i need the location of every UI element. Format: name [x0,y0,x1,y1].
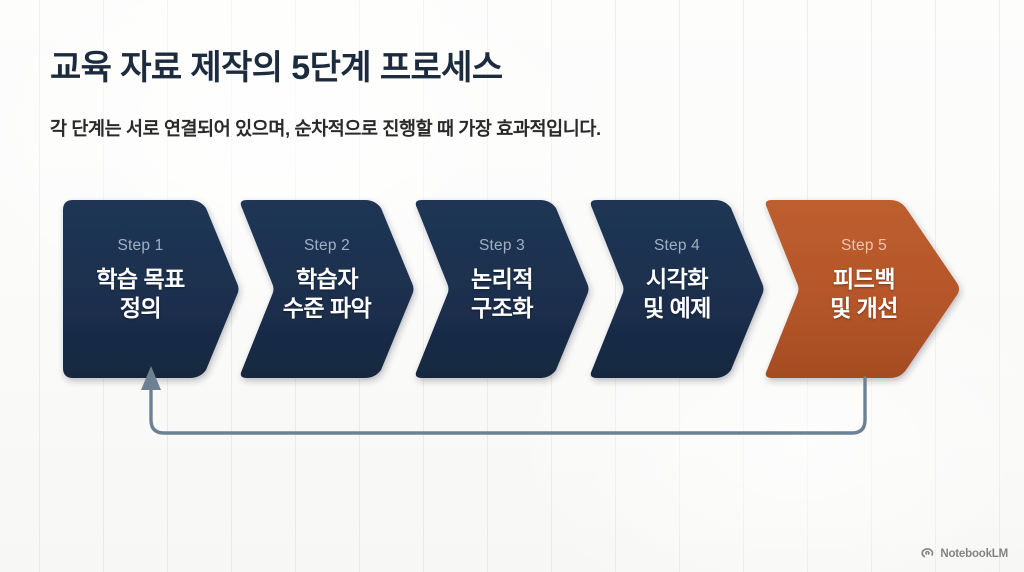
step-4-label: Step 4 시각화 및 예제 [603,238,751,323]
page-title: 교육 자료 제작의 5단계 프로세스 [50,40,503,89]
step-5-label: Step 5 피드백 및 개선 [790,238,938,323]
step-1-label: Step 1 학습 목표 정의 [63,238,218,323]
chevron-step-2[interactable] [241,200,414,378]
chevron-step-3[interactable] [416,200,589,378]
step-2-number: Step 2 [253,238,401,254]
chevron-step-5[interactable] [766,200,959,378]
step-4-title: 시각화 및 예제 [603,265,751,324]
step-2-label: Step 2 학습자 수준 파악 [253,238,401,323]
step-3-title-line2: 구조화 [428,294,576,323]
step-2-title-line1: 학습자 [253,265,401,294]
notebooklm-spark-icon [920,547,935,560]
notebooklm-watermark: NotebookLM [920,547,1008,560]
step-5-title-line1: 피드백 [790,265,938,294]
step-3-title-line1: 논리적 [428,265,576,294]
step-4-number: Step 4 [603,238,751,254]
step-3-number: Step 3 [428,238,576,254]
step-1-title: 학습 목표 정의 [63,265,218,324]
step-4-title-line2: 및 예제 [603,294,751,323]
step-5-number: Step 5 [790,238,938,254]
step-5-title-line2: 및 개선 [790,294,938,323]
chevron-step-1[interactable] [63,200,239,378]
page-subtitle: 각 단계는 서로 연결되어 있으며, 순차적으로 진행할 때 가장 효과적입니다… [50,115,601,141]
chevron-step-4[interactable] [591,200,764,378]
notebooklm-watermark-label: NotebookLM [940,548,1008,560]
step-5-title: 피드백 및 개선 [790,265,938,324]
step-4-title-line1: 시각화 [603,265,751,294]
feedback-loop-arrow [141,366,865,433]
step-1-title-line2: 정의 [63,294,218,323]
step-3-title: 논리적 구조화 [428,265,576,324]
slide-canvas: 교육 자료 제작의 5단계 프로세스 각 단계는 서로 연결되어 있으며, 순차… [0,0,1024,572]
step-2-title: 학습자 수준 파악 [253,265,401,324]
step-3-label: Step 3 논리적 구조화 [428,238,576,323]
step-1-number: Step 1 [63,238,218,254]
step-2-title-line2: 수준 파악 [253,294,401,323]
step-1-title-line1: 학습 목표 [63,265,218,294]
